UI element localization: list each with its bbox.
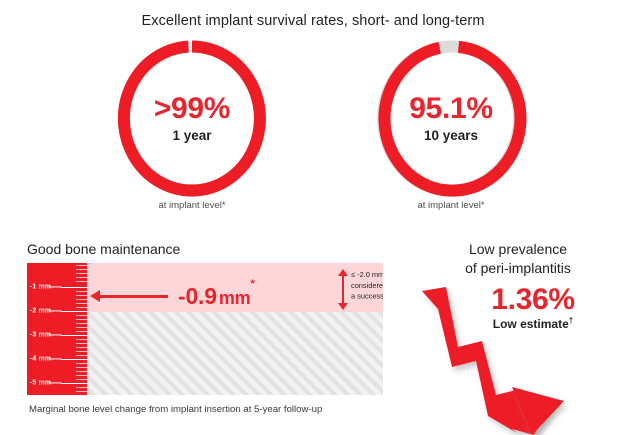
bone-measurement-value: -0.9mm* <box>178 283 255 310</box>
prevalence-sub-label: Low estimate† <box>453 316 613 331</box>
donut-value-10-years: 95.1% <box>409 94 493 125</box>
donut-value-1-year: >99% <box>154 94 230 125</box>
double-arrow-icon <box>338 269 348 310</box>
bone-measurement-footnote: * <box>250 278 254 290</box>
bone-measurement-callout: -0.9mm* <box>90 283 320 309</box>
donut-ring-1-year: >99% 1 year <box>112 36 272 201</box>
page-title: Excellent implant survival rates, short-… <box>0 13 626 29</box>
donut-label-1-year: 1 year <box>172 128 211 143</box>
donut-ring-10-years: 95.1% 10 years <box>371 36 531 201</box>
donut-caption-1-year: at implant level* <box>112 200 272 211</box>
bone-chart-caption: Marginal bone level change from implant … <box>29 404 322 415</box>
bone-measurement-number: -0.9 <box>178 283 217 309</box>
donut-chart-1-year: >99% 1 year <box>112 36 272 201</box>
donut-caption-10-years: at implant level* <box>371 200 531 211</box>
ruler-label-5mm: -5 mm <box>30 380 51 387</box>
success-line-3-text: a success <box>351 292 383 301</box>
ruler-label-1mm: -1 mm <box>30 284 51 291</box>
left-arrow-icon <box>90 289 168 303</box>
bone-section-title: Good bone maintenance <box>27 241 180 257</box>
success-threshold-note: ≤ -2.0 mm considered a success† <box>338 267 383 310</box>
bone-measurement-unit: mm <box>219 288 251 308</box>
prevalence-sub-footnote: † <box>569 316 573 325</box>
prevalence-value: 1.36% <box>453 283 613 317</box>
donut-label-10-years: 10 years <box>424 128 478 143</box>
success-threshold-text: ≤ -2.0 mm considered a success† <box>351 267 383 302</box>
ruler-label-4mm: -4 mm <box>30 356 51 363</box>
ruler-label-2mm: -2 mm <box>30 308 51 315</box>
donut-center-10-years: 95.1% 10 years <box>371 36 531 201</box>
success-line-2: considered <box>351 281 383 292</box>
prevalence-title-line1: Low prevalence <box>413 240 623 259</box>
success-line-1: ≤ -2.0 mm <box>351 270 383 281</box>
prevalence-sub-text: Low estimate <box>493 317 569 331</box>
success-line-3: a success† <box>351 291 383 302</box>
infographic-page: Excellent implant survival rates, short-… <box>0 0 626 435</box>
donut-chart-10-years: 95.1% 10 years <box>371 36 531 201</box>
bone-ruler: -1 mm -2 mm -3 mm -4 mm -5 mm <box>27 263 87 395</box>
prevalence-title-line2: of peri-implantitis <box>413 259 623 278</box>
donut-center-1-year: >99% 1 year <box>112 36 272 201</box>
prevalence-title: Low prevalence of peri-implantitis <box>413 240 623 278</box>
ruler-label-3mm: -3 mm <box>30 332 51 339</box>
bone-chart-panel: -1 mm -2 mm -3 mm -4 mm -5 mm -0.9mm* ≤ … <box>27 263 383 395</box>
ruler-ticks <box>61 263 87 395</box>
